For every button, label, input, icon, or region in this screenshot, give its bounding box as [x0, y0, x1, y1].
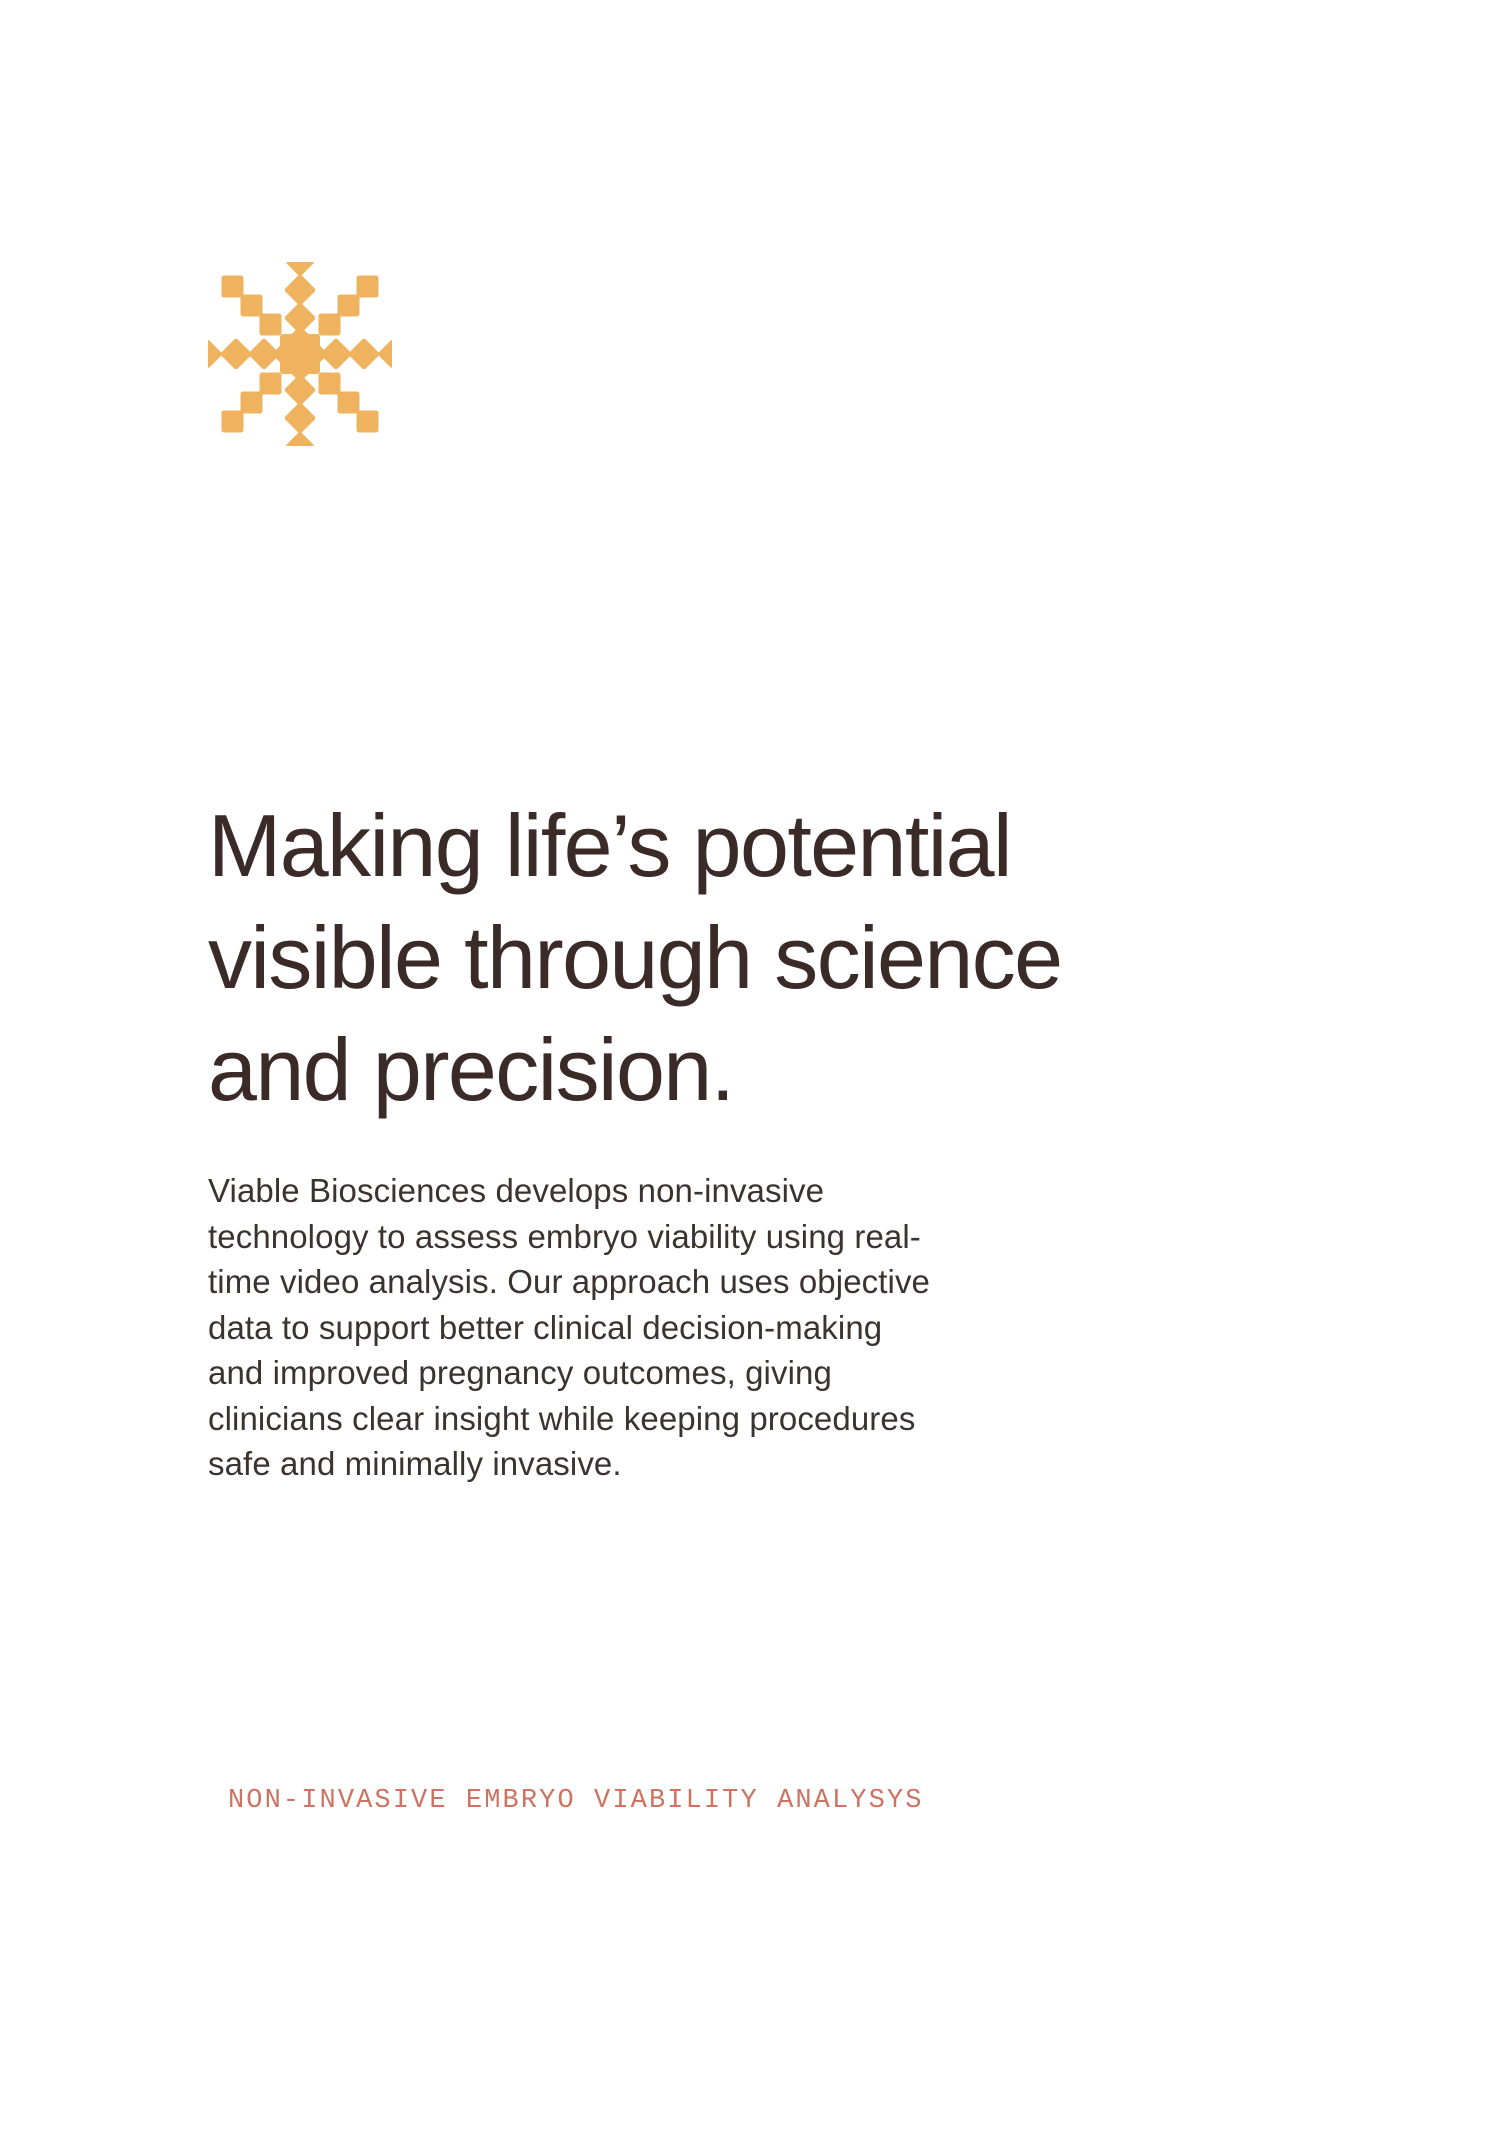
body-line-3: time video analysis. Our approach uses o…: [208, 1259, 1318, 1305]
brand-logo[interactable]: [208, 262, 392, 446]
intro-paragraph: Viable Biosciences develops non-invasive…: [208, 1168, 1318, 1487]
starburst-icon: [208, 262, 392, 446]
headline-line-2: visible through science: [208, 902, 1278, 1014]
body-line-6: clinicians clear insight while keeping p…: [208, 1396, 1318, 1442]
footer-tagline: NON-INVASIVE EMBRYO VIABILITY ANALYSYS: [228, 1782, 924, 1820]
body-line-2: technology to assess embryo viability us…: [208, 1214, 1318, 1260]
page-title: Making life’s potential visible through …: [208, 790, 1278, 1126]
headline-line-3: and precision.: [208, 1014, 1278, 1126]
poster-canvas: Making life’s potential visible through …: [0, 0, 1500, 2142]
body-line-4: data to support better clinical decision…: [208, 1305, 1318, 1351]
body-line-5: and improved pregnancy outcomes, giving: [208, 1350, 1318, 1396]
headline-line-1: Making life’s potential: [208, 790, 1278, 902]
body-line-7: safe and minimally invasive.: [208, 1441, 1318, 1487]
body-line-1: Viable Biosciences develops non-invasive: [208, 1168, 1318, 1214]
